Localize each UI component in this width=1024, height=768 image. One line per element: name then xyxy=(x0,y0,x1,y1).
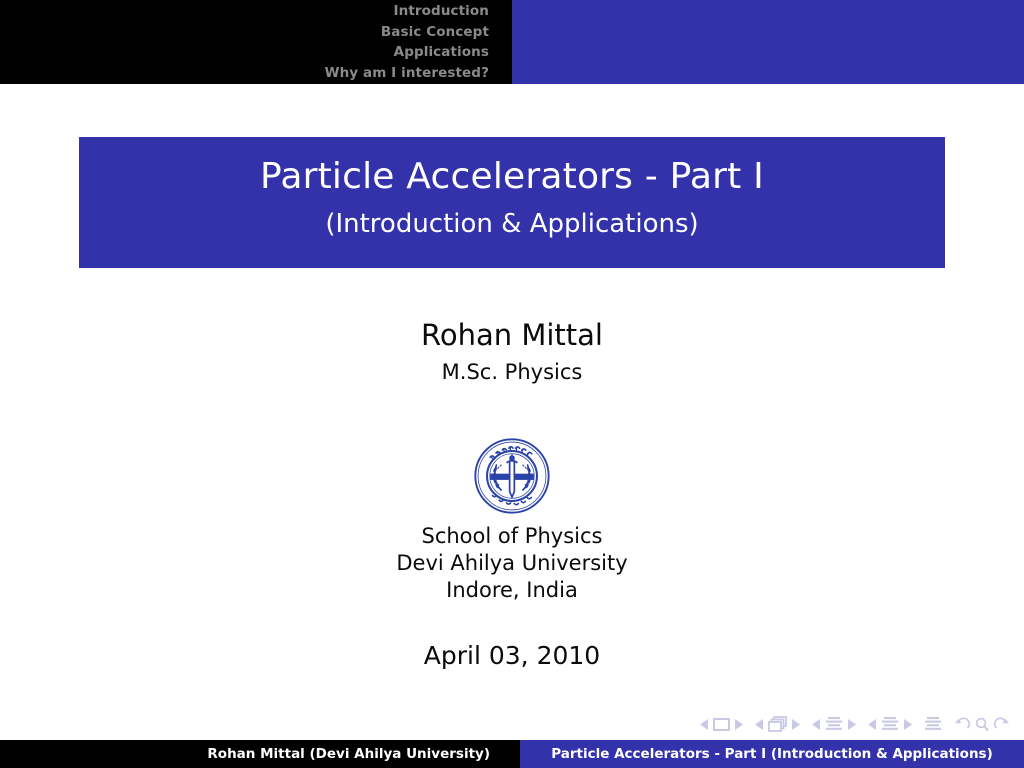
document-navigation-group xyxy=(924,716,942,732)
section-lines-icon[interactable] xyxy=(881,716,899,732)
institute-line-city: Indore, India xyxy=(0,577,1024,604)
logo-container xyxy=(0,437,1024,519)
nav-section-why-am-i-interested[interactable]: Why am I interested? xyxy=(0,63,489,84)
institute-line-school: School of Physics xyxy=(0,523,1024,550)
section-navigation-list: Introduction Basic Concept Applications … xyxy=(0,1,489,83)
document-lines-icon[interactable] xyxy=(924,716,942,732)
slide-navigation-group xyxy=(700,718,743,731)
beamer-navigation-symbols xyxy=(700,712,1010,736)
triangle-right-icon[interactable] xyxy=(847,719,856,730)
presentation-subtitle: (Introduction & Applications) xyxy=(79,206,945,242)
frame-navigation-group xyxy=(755,716,800,732)
author-block: Rohan Mittal M.Sc. Physics xyxy=(0,316,1024,387)
forward-arrow-icon[interactable] xyxy=(994,717,1010,732)
subsection-lines-icon[interactable] xyxy=(825,716,843,732)
nav-section-basic-concept[interactable]: Basic Concept xyxy=(0,22,489,43)
triangle-left-icon[interactable] xyxy=(700,719,709,730)
institute-block: School of Physics Devi Ahilya University… xyxy=(0,523,1024,604)
subsection-navigation-group xyxy=(812,716,856,732)
nav-section-applications[interactable]: Applications xyxy=(0,42,489,63)
triangle-left-icon[interactable] xyxy=(755,719,764,730)
triangle-right-icon[interactable] xyxy=(791,719,800,730)
presentation-slide: Introduction Basic Concept Applications … xyxy=(0,0,1024,768)
presentation-title: Particle Accelerators - Part I xyxy=(79,154,945,200)
triangle-left-icon[interactable] xyxy=(868,719,877,730)
date-block: April 03, 2010 xyxy=(0,640,1024,672)
title-block: Particle Accelerators - Part I (Introduc… xyxy=(79,137,945,268)
headline-bar: Introduction Basic Concept Applications … xyxy=(0,0,1024,84)
slide-rectangle-icon[interactable] xyxy=(713,718,730,731)
back-arrow-icon[interactable] xyxy=(954,717,970,732)
footer-bar: Rohan Mittal (Devi Ahilya University) Pa… xyxy=(0,740,1024,768)
triangle-left-icon[interactable] xyxy=(812,719,821,730)
search-magnifier-icon[interactable] xyxy=(974,717,990,732)
author-degree: M.Sc. Physics xyxy=(0,357,1024,387)
triangle-right-icon[interactable] xyxy=(734,719,743,730)
history-navigation-group xyxy=(954,717,1010,732)
footer-title: Particle Accelerators - Part I (Introduc… xyxy=(520,740,1024,768)
stacked-frames-icon[interactable] xyxy=(768,716,787,732)
institute-line-university: Devi Ahilya University xyxy=(0,550,1024,577)
section-navigation-group xyxy=(868,716,912,732)
presentation-date: April 03, 2010 xyxy=(424,641,600,670)
devi-ahilya-university-seal-icon xyxy=(473,437,551,519)
nav-section-introduction[interactable]: Introduction xyxy=(0,1,489,22)
footer-author: Rohan Mittal (Devi Ahilya University) xyxy=(0,740,512,768)
author-name: Rohan Mittal xyxy=(0,316,1024,354)
triangle-right-icon[interactable] xyxy=(903,719,912,730)
